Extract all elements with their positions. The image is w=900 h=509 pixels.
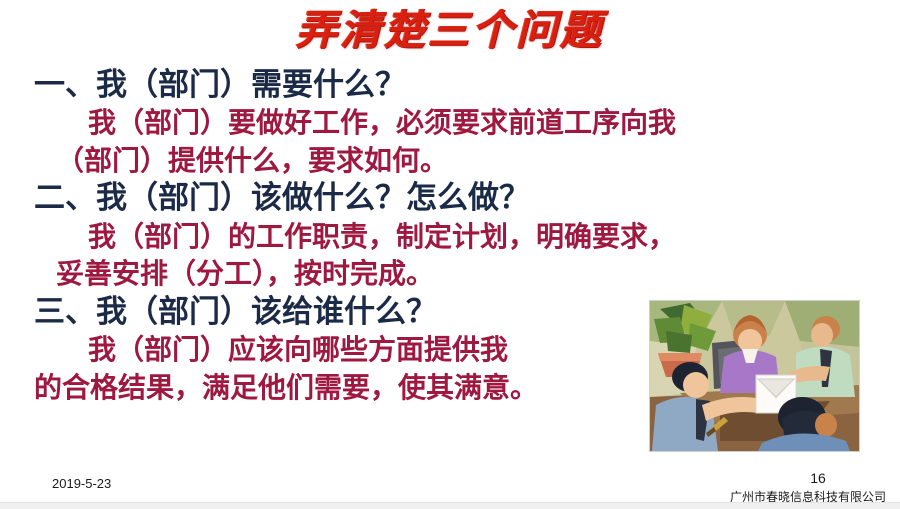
footer-date: 2019-5-23	[52, 476, 111, 491]
question-1-line-2: （部门）提供什么，要求如何。	[0, 142, 900, 180]
question-1-line-1: 我（部门）要做好工作，必须要求前道工序向我	[0, 104, 900, 142]
office-meeting-icon	[650, 301, 859, 451]
bottom-divider-bar	[0, 502, 900, 509]
question-2-line-2: 妥善安排（分工），按时完成。	[0, 255, 900, 293]
question-group-2: 二、我（部门）该做什么？怎么做？ 我（部门）的工作职责，制定计划，明确要求， 妥…	[0, 179, 900, 292]
slide-page-number: 16	[788, 470, 848, 486]
office-meeting-image	[649, 300, 860, 452]
presentation-slide: 弄清楚三个问题 一、我（部门）需要什么？ 我（部门）要做好工作，必须要求前道工序…	[0, 0, 900, 509]
question-2-line-1: 我（部门）的工作职责，制定计划，明确要求，	[0, 218, 900, 256]
question-heading-1: 一、我（部门）需要什么？	[0, 66, 900, 104]
question-heading-2: 二、我（部门）该做什么？怎么做？	[0, 179, 900, 217]
question-group-1: 一、我（部门）需要什么？ 我（部门）要做好工作，必须要求前道工序向我 （部门）提…	[0, 66, 900, 179]
slide-title: 弄清楚三个问题	[0, 8, 900, 53]
